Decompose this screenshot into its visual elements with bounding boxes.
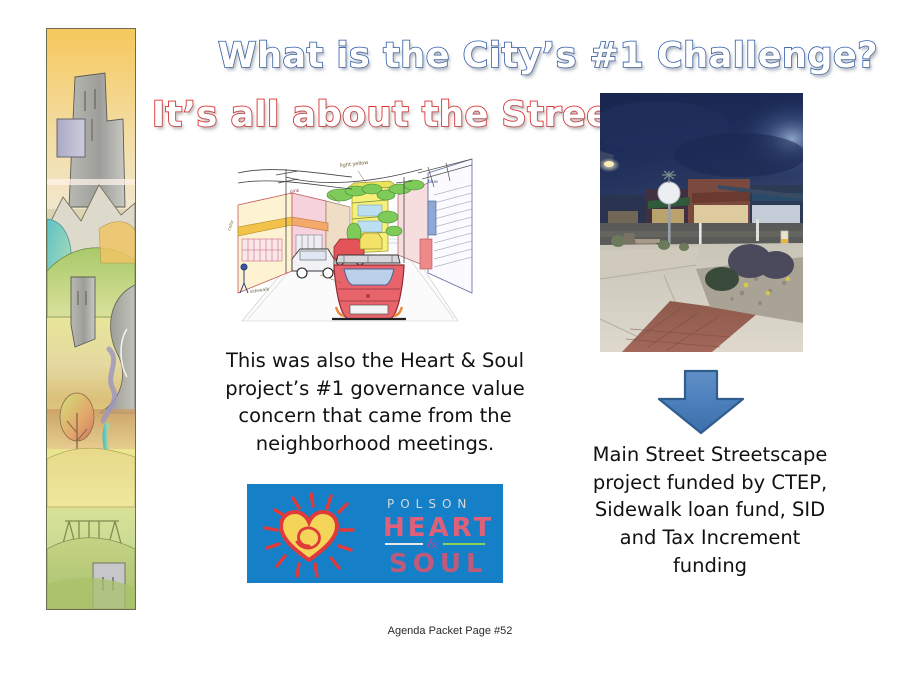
center-paragraph: This was also the Heart & Soul project’s… — [214, 347, 536, 458]
street-scene-sketch-image: light yellow pink color sidewalk blue — [222, 143, 474, 323]
arrow-down-icon — [655, 369, 747, 436]
slide-title-secondary: It’s all about the Streets! — [152, 95, 666, 135]
svg-text:blue: blue — [428, 179, 438, 185]
logo-org-name: POLSON — [387, 497, 472, 511]
decorative-city-landscape-strip — [47, 29, 135, 609]
slide-canvas: What is the City’s #1 Challenge? It’s al… — [0, 0, 900, 675]
footer-page-label: Agenda Packet Page #52 — [0, 625, 900, 637]
street-scene-sketch: light yellow pink color sidewalk blue — [222, 143, 474, 323]
decorative-art-column — [46, 28, 136, 610]
main-street-night-photo — [600, 93, 803, 352]
night-street-photograph — [600, 93, 803, 352]
polson-heart-and-soul-logo: POLSON HEART & SOUL — [247, 484, 503, 583]
slide-title-primary: What is the City’s #1 Challenge? — [218, 36, 878, 76]
logo-artwork: POLSON HEART & SOUL — [247, 484, 503, 583]
logo-word-soul: SOUL — [389, 549, 488, 579]
right-caption: Main Street Streetscape project funded b… — [592, 441, 828, 579]
logo-word-heart: HEART — [383, 513, 494, 543]
arrow-down-glyph — [655, 369, 747, 436]
